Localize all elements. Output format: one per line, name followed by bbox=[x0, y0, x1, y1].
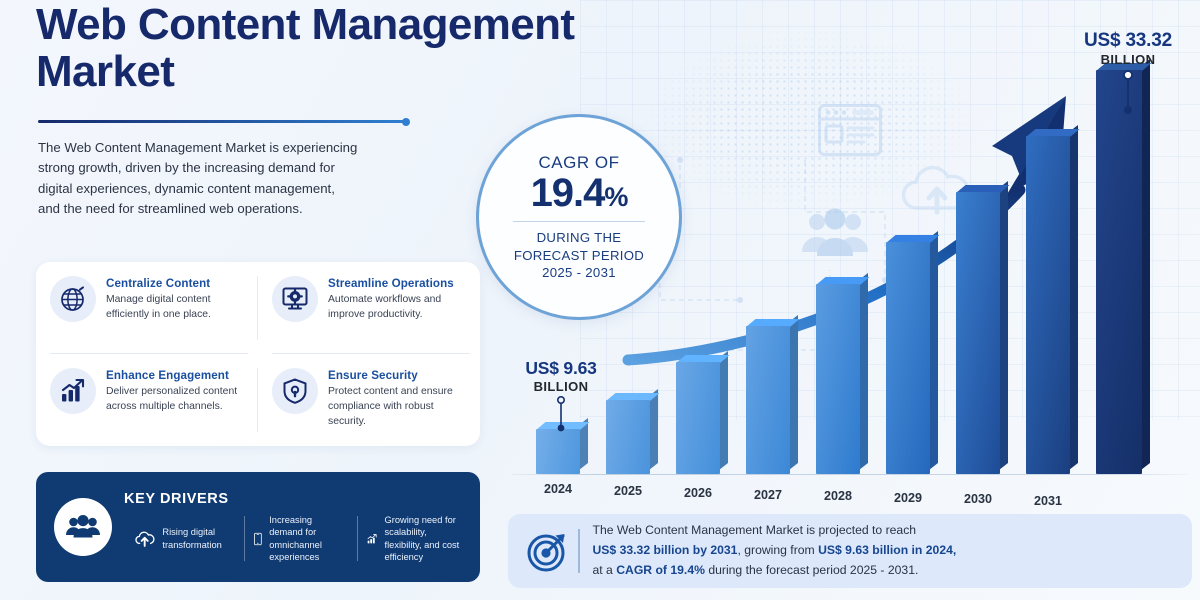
cagr-value: 19.4% bbox=[531, 171, 628, 215]
chart-bar[interactable] bbox=[816, 284, 860, 474]
key-drivers-title: KEY DRIVERS bbox=[124, 491, 470, 507]
chart-bar[interactable] bbox=[1026, 136, 1070, 474]
cagr-sub-line3: 2025 - 2031 bbox=[514, 264, 644, 281]
feature-heading: Streamline Operations bbox=[328, 277, 468, 290]
cloud-upload-icon bbox=[134, 526, 155, 552]
callout-end-value: US$ 33.32 BILLION bbox=[1062, 30, 1194, 67]
cagr-number: 19.4 bbox=[531, 171, 605, 215]
chart-xtick: 2026 bbox=[666, 486, 730, 500]
infographic-root: Web Content Management Market The Web Co… bbox=[0, 0, 1200, 600]
feature-ensure-security[interactable]: Ensure Security Protect content and ensu… bbox=[258, 354, 480, 446]
summary-bold-cagr: CAGR of 19.4% bbox=[616, 563, 705, 577]
callout-amount: US$ 33.32 bbox=[1062, 30, 1194, 52]
feature-streamline-operations[interactable]: Streamline Operations Automate workflows… bbox=[258, 262, 480, 354]
key-driver-item[interactable]: Growing need for scalability, flexibilit… bbox=[357, 514, 470, 563]
left-column: Web Content Management Market The Web Co… bbox=[0, 0, 500, 600]
summary-line2-mid: , growing from bbox=[737, 543, 818, 557]
chart-xtick: 2029 bbox=[876, 491, 940, 505]
key-driver-text: Increasing demand for omnichannel experi… bbox=[269, 514, 347, 563]
cagr-badge: CAGR OF 19.4% DURING THE FORECAST PERIOD… bbox=[476, 114, 682, 320]
cagr-subtext: DURING THE FORECAST PERIOD 2025 - 2031 bbox=[514, 229, 644, 281]
summary-panel: The Web Content Management Market is pro… bbox=[508, 514, 1192, 588]
key-driver-item[interactable]: Increasing demand for omnichannel experi… bbox=[244, 514, 357, 563]
key-driver-text: Growing need for scalability, flexibilit… bbox=[385, 514, 461, 563]
target-arrow-icon bbox=[524, 530, 572, 572]
chart-bar[interactable] bbox=[676, 362, 720, 474]
summary-line1: The Web Content Management Market is pro… bbox=[593, 523, 917, 537]
chart-bar[interactable] bbox=[746, 326, 790, 474]
title-divider bbox=[38, 120, 406, 123]
chart-xtick: 2031 bbox=[1016, 494, 1080, 508]
summary-bold-start-value: US$ 9.63 billion in 2024, bbox=[818, 543, 956, 557]
summary-bold-end-value: US$ 33.32 billion by 2031 bbox=[593, 543, 738, 557]
shield-lock-icon bbox=[272, 368, 318, 414]
callout-amount: US$ 9.63 bbox=[506, 358, 616, 379]
feature-body: Protect content and ensure compliance wi… bbox=[328, 385, 468, 429]
cagr-label: CAGR OF bbox=[539, 153, 620, 173]
summary-divider bbox=[578, 529, 580, 573]
callout-unit: BILLION bbox=[506, 379, 616, 394]
chart-bar[interactable] bbox=[956, 192, 1000, 474]
summary-line3-post: during the forecast period 2025 - 2031. bbox=[705, 563, 918, 577]
feature-card-grid: Centralize Content Manage digital conten… bbox=[36, 262, 480, 446]
feature-heading: Enhance Engagement bbox=[106, 369, 246, 382]
chart-xtick: 2025 bbox=[596, 484, 660, 498]
chart-bar[interactable] bbox=[1096, 70, 1142, 474]
feature-body: Manage digital content efficiently in on… bbox=[106, 293, 246, 323]
chart-bar[interactable] bbox=[536, 429, 580, 474]
chart-bar[interactable] bbox=[886, 242, 930, 474]
globe-icon bbox=[50, 276, 96, 322]
chart-xtick: 2028 bbox=[806, 489, 870, 503]
smartphone-icon bbox=[254, 523, 262, 555]
chart-baseline bbox=[512, 474, 1188, 475]
title-divider-dot bbox=[402, 118, 410, 126]
feature-centralize-content[interactable]: Centralize Content Manage digital conten… bbox=[36, 262, 258, 354]
chart-xtick: 2024 bbox=[526, 482, 590, 496]
growth-chart-icon bbox=[50, 368, 96, 414]
key-driver-text: Rising digital transformation bbox=[162, 526, 234, 551]
feature-body: Deliver personalized content across mult… bbox=[106, 385, 246, 415]
cagr-sub-line2: FORECAST PERIOD bbox=[514, 247, 644, 264]
bar-chart-arrow-icon bbox=[367, 524, 377, 554]
chart-bar[interactable] bbox=[606, 400, 650, 474]
key-driver-item[interactable]: Rising digital transformation bbox=[124, 526, 244, 552]
callout-unit: BILLION bbox=[1062, 52, 1194, 67]
summary-line3-pre: at a bbox=[593, 563, 617, 577]
chart-xtick: 2027 bbox=[736, 488, 800, 502]
cagr-percent-sign: % bbox=[604, 182, 627, 212]
feature-enhance-engagement[interactable]: Enhance Engagement Deliver personalized … bbox=[36, 354, 258, 446]
cagr-sub-line1: DURING THE bbox=[514, 229, 644, 246]
cagr-divider bbox=[513, 221, 645, 223]
people-group-icon bbox=[54, 498, 112, 556]
summary-text: The Web Content Management Market is pro… bbox=[593, 521, 957, 580]
key-drivers-panel: KEY DRIVERS Rising digital transformatio… bbox=[36, 472, 480, 582]
callout-start-value: US$ 9.63 BILLION bbox=[506, 358, 616, 394]
feature-body: Automate workflows and improve productiv… bbox=[328, 293, 468, 323]
chart-xtick: 2030 bbox=[946, 492, 1010, 506]
intro-paragraph: The Web Content Management Market is exp… bbox=[38, 138, 358, 220]
callout-pin-icon bbox=[1122, 70, 1134, 118]
callout-pin-icon bbox=[556, 396, 566, 434]
feature-heading: Ensure Security bbox=[328, 369, 468, 382]
monitor-gear-icon bbox=[272, 276, 318, 322]
feature-heading: Centralize Content bbox=[106, 277, 246, 290]
